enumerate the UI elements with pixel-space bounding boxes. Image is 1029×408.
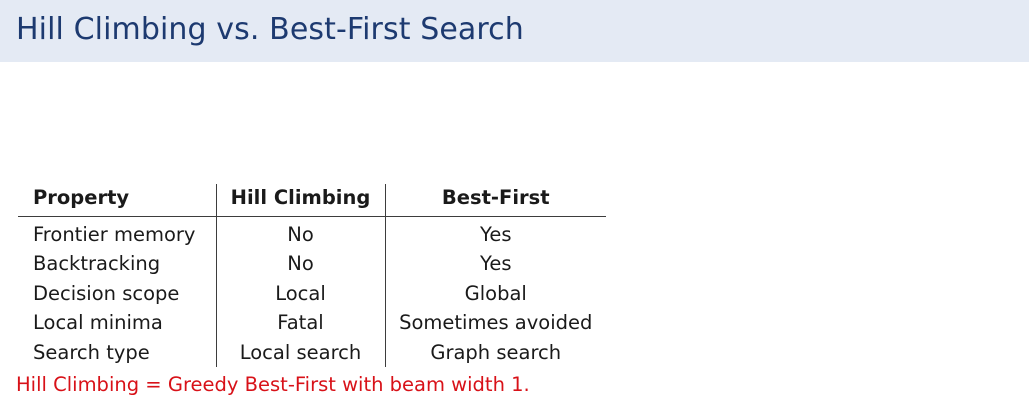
title-band: Hill Climbing vs. Best-First Search: [0, 0, 1029, 62]
column-header-best-first: Best-First: [385, 184, 606, 216]
cell-property: Local minima: [18, 308, 216, 338]
column-header-property: Property: [18, 184, 216, 216]
cell-hill-climbing: Local search: [216, 338, 385, 368]
cell-best-first: Sometimes avoided: [385, 308, 606, 338]
table-body: Frontier memory No Yes Backtracking No Y…: [18, 216, 606, 367]
cell-hill-climbing: No: [216, 216, 385, 249]
column-header-hill-climbing: Hill Climbing: [216, 184, 385, 216]
cell-best-first: Global: [385, 279, 606, 309]
cell-best-first: Graph search: [385, 338, 606, 368]
cell-best-first: Yes: [385, 216, 606, 249]
cell-property: Search type: [18, 338, 216, 368]
cell-property: Backtracking: [18, 249, 216, 279]
comparison-table-container: Property Hill Climbing Best-First Fronti…: [18, 184, 606, 367]
cell-best-first: Yes: [385, 249, 606, 279]
cell-hill-climbing: No: [216, 249, 385, 279]
cell-property: Decision scope: [18, 279, 216, 309]
cell-property: Frontier memory: [18, 216, 216, 249]
table-row: Local minima Fatal Sometimes avoided: [18, 308, 606, 338]
cell-hill-climbing: Local: [216, 279, 385, 309]
table-header: Property Hill Climbing Best-First: [18, 184, 606, 216]
table-row: Search type Local search Graph search: [18, 338, 606, 368]
summary-note: Hill Climbing = Greedy Best-First with b…: [16, 372, 530, 398]
table-header-row: Property Hill Climbing Best-First: [18, 184, 606, 216]
table-row: Frontier memory No Yes: [18, 216, 606, 249]
comparison-table: Property Hill Climbing Best-First Fronti…: [18, 184, 606, 367]
page-title: Hill Climbing vs. Best-First Search: [16, 8, 524, 52]
table-row: Decision scope Local Global: [18, 279, 606, 309]
table-row: Backtracking No Yes: [18, 249, 606, 279]
cell-hill-climbing: Fatal: [216, 308, 385, 338]
